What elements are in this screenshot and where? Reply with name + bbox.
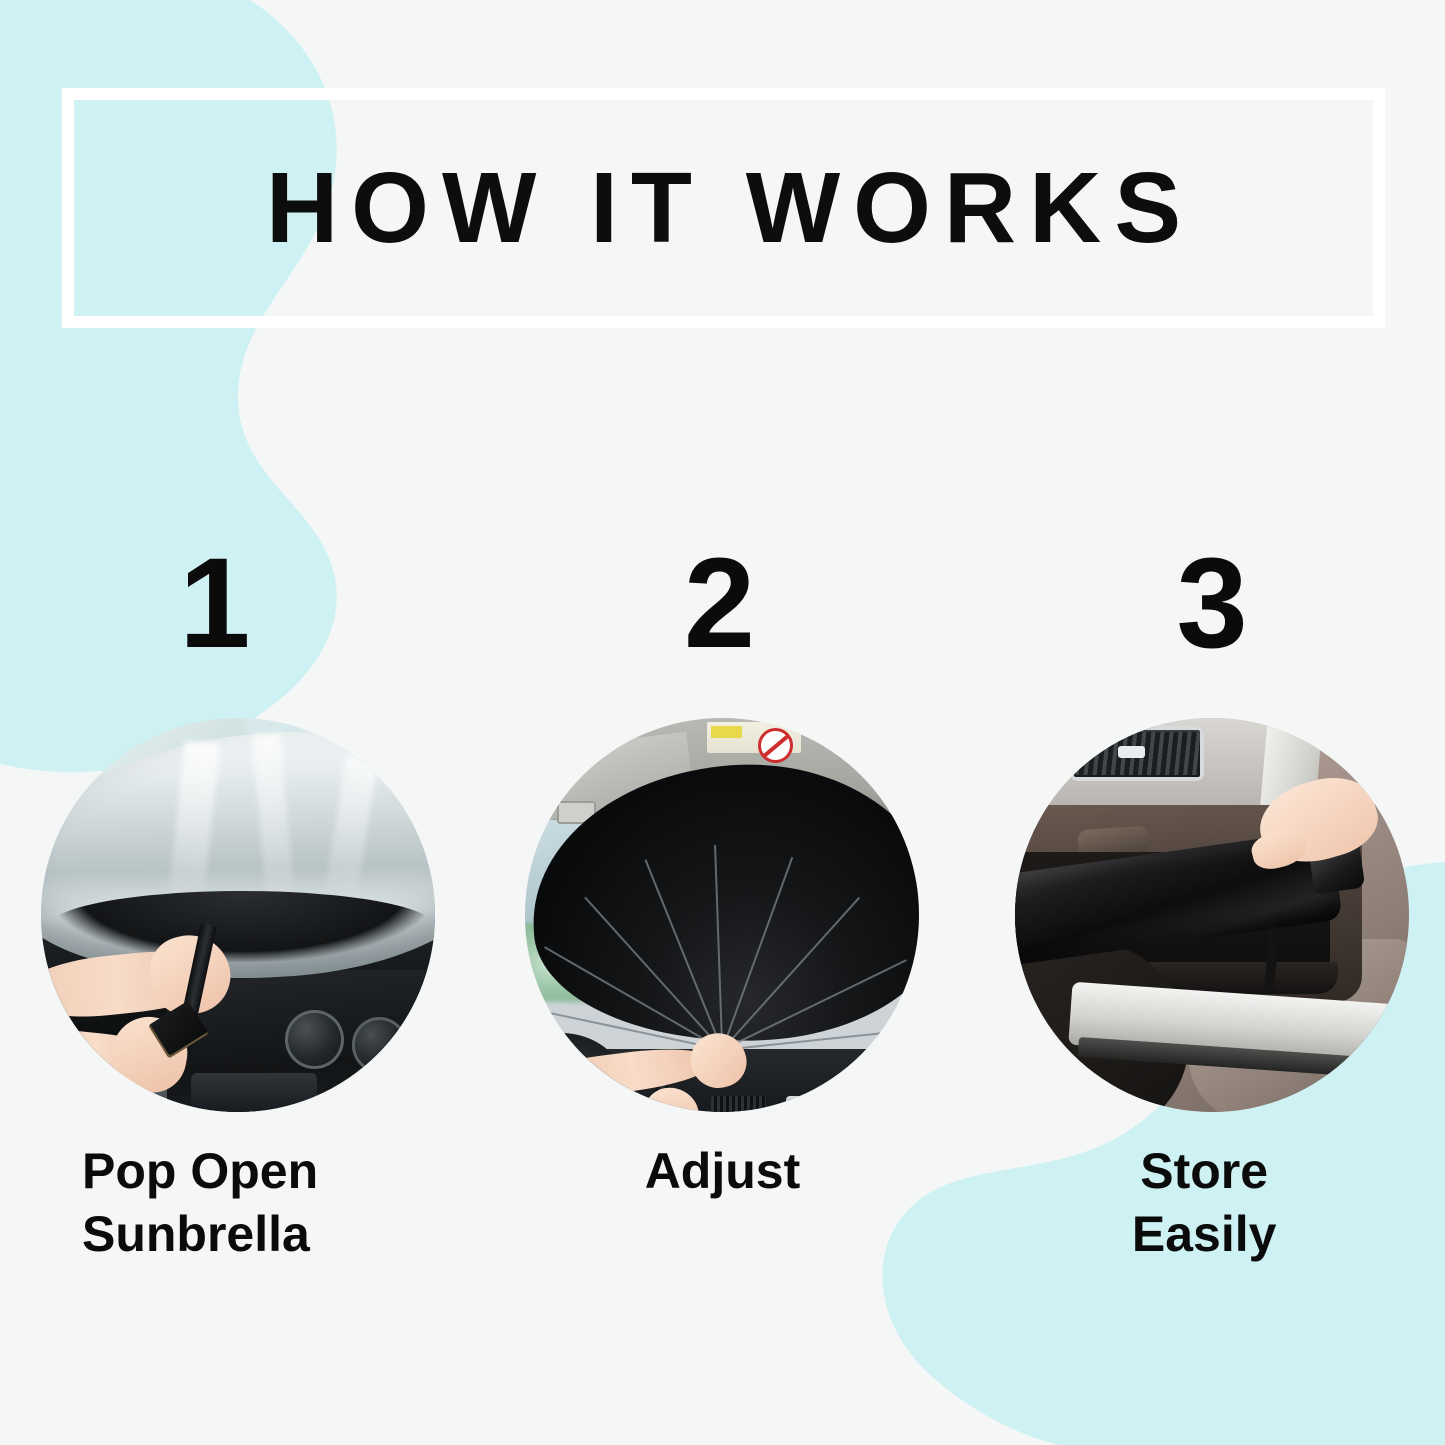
step-3-caption: Store Easily bbox=[963, 1140, 1445, 1265]
store-easily-illustration bbox=[1015, 718, 1409, 1112]
step-2-photo bbox=[525, 718, 919, 1112]
step-3-number: 3 bbox=[971, 540, 1445, 668]
step-3: 3 bbox=[963, 540, 1445, 1370]
step-3-caption-line-2: Easily bbox=[963, 1203, 1445, 1266]
step-2: 2 bbox=[482, 540, 964, 1370]
step-3-photo bbox=[1015, 718, 1409, 1112]
step-1-caption: Pop Open Sunbrella bbox=[0, 1140, 482, 1265]
step-3-caption-line-1: Store bbox=[963, 1140, 1445, 1203]
title-frame: HOW IT WORKS bbox=[62, 88, 1385, 328]
page-title: HOW IT WORKS bbox=[253, 158, 1194, 258]
step-1: 1 bbox=[0, 540, 482, 1370]
steps-row: 1 bbox=[0, 540, 1445, 1370]
step-2-number: 2 bbox=[479, 540, 961, 668]
step-1-caption-line-2: Sunbrella bbox=[82, 1203, 482, 1266]
step-1-caption-line-1: Pop Open bbox=[82, 1140, 482, 1203]
step-2-caption: Adjust bbox=[482, 1140, 964, 1203]
step-1-number: 1 bbox=[0, 540, 456, 668]
adjust-sunshade-illustration bbox=[525, 718, 919, 1112]
step-2-caption-line-1: Adjust bbox=[482, 1140, 964, 1203]
pop-open-sunbrella-illustration bbox=[41, 718, 435, 1112]
step-1-photo bbox=[41, 718, 435, 1112]
